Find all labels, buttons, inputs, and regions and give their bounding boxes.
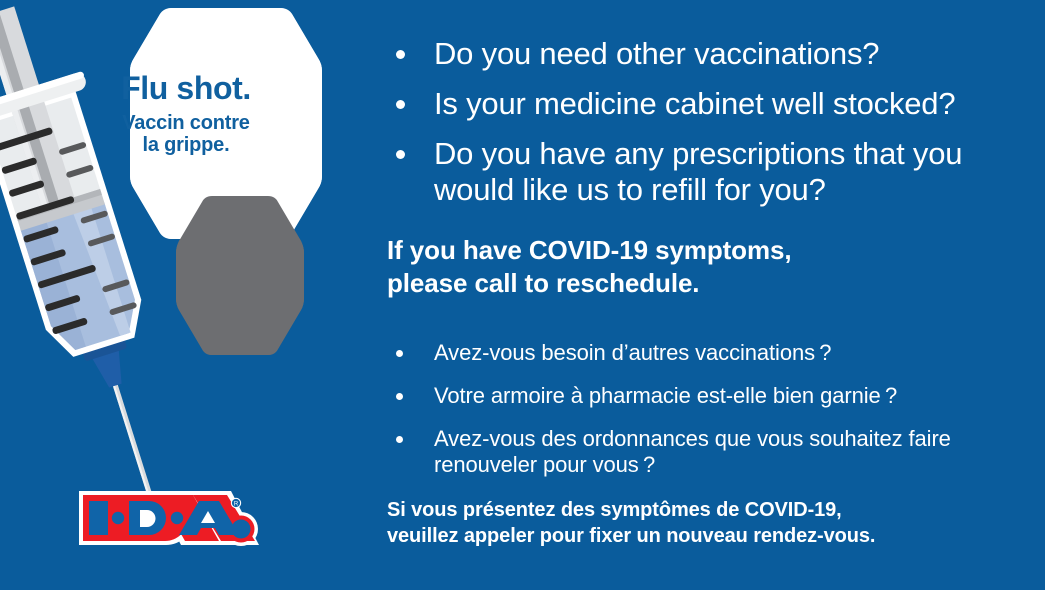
french-notice: Si vous présentez des symptômes de COVID… bbox=[387, 497, 1037, 549]
list-item: Avez-vous des ordonnances que vous souha… bbox=[386, 426, 1036, 478]
flu-shot-poster: Flu shot. Vaccin contre la grippe. bbox=[0, 0, 1045, 590]
french-question-2: Votre armoire à pharmacie est-elle bien … bbox=[434, 383, 897, 408]
french-notice-line1: Si vous présentez des symptômes de COVID… bbox=[387, 499, 842, 521]
gray-hexagon-overlay bbox=[176, 196, 304, 355]
bullet-dot-icon bbox=[396, 150, 405, 159]
syringe-liquid bbox=[20, 202, 144, 354]
list-item: Do you have any prescriptions that you w… bbox=[386, 136, 1036, 208]
french-notice-line2: veuillez appeler pour fixer un nouveau r… bbox=[387, 525, 875, 547]
french-question-3: Avez-vous des ordonnances que vous souha… bbox=[434, 426, 951, 477]
english-notice: If you have COVID-19 symptoms, please ca… bbox=[387, 234, 1037, 300]
bullet-dot-icon bbox=[396, 50, 405, 59]
english-notice-line2: please call to reschedule. bbox=[387, 268, 699, 298]
bullet-dot-icon bbox=[396, 100, 405, 109]
list-item: Votre armoire à pharmacie est-elle bien … bbox=[386, 383, 1036, 409]
english-question-1: Do you need other vaccinations? bbox=[434, 36, 879, 71]
english-notice-line1: If you have COVID-19 symptoms, bbox=[387, 235, 791, 265]
english-question-list: Do you need other vaccinations? Is your … bbox=[386, 36, 1036, 208]
list-item: Do you need other vaccinations? bbox=[386, 36, 1036, 72]
bullet-dot-icon bbox=[396, 436, 403, 443]
copy-panel: Do you need other vaccinations? Is your … bbox=[386, 0, 1036, 590]
french-question-list: Avez-vous besoin d’autres vaccinations ?… bbox=[386, 340, 1036, 478]
bullet-dot-icon bbox=[396, 393, 403, 400]
svg-text:R: R bbox=[234, 502, 239, 508]
english-question-3: Do you have any prescriptions that you w… bbox=[434, 136, 962, 207]
french-question-1: Avez-vous besoin d’autres vaccinations ? bbox=[434, 340, 831, 365]
list-item: Is your medicine cabinet well stocked? bbox=[386, 86, 1036, 122]
bullet-dot-icon bbox=[396, 350, 403, 357]
ida-registered-trademark-icon: R bbox=[231, 498, 241, 508]
list-item: Avez-vous besoin d’autres vaccinations ? bbox=[386, 340, 1036, 366]
english-question-2: Is your medicine cabinet well stocked? bbox=[434, 86, 955, 121]
ida-logo: R bbox=[73, 487, 273, 549]
